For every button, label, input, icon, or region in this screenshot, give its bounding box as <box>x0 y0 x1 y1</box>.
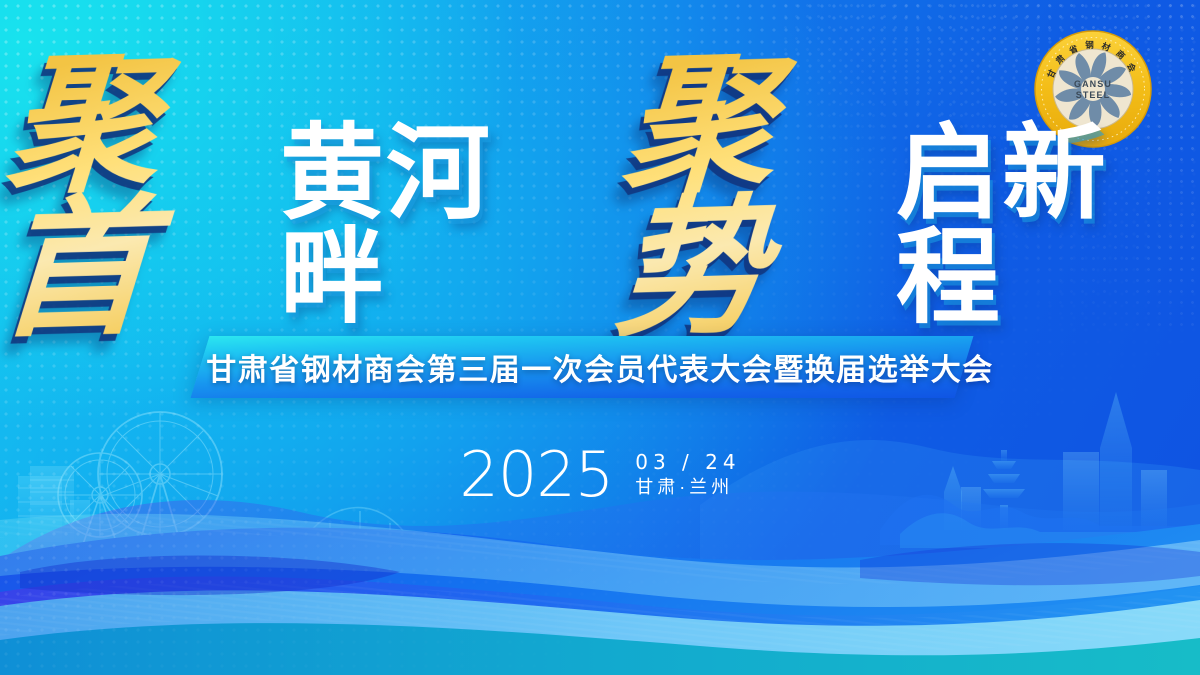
event-year: 2025 <box>459 444 613 506</box>
poster-canvas: GANSU STEEL 甘肃省钢材商会 聚首 黄河畔 聚势 启新程 甘肃省钢材商… <box>0 0 1200 675</box>
date-block: 2025 03 / 24 甘肃·兰州 <box>0 444 1200 506</box>
subtitle-banner: 甘肃省钢材商会第三届一次会员代表大会暨换届选举大会 <box>0 336 1200 398</box>
event-month-day: 03 / 24 <box>635 452 740 472</box>
subtitle-text: 甘肃省钢材商会第三届一次会员代表大会暨换届选举大会 <box>0 336 1200 398</box>
logo-english-line2: STEEL <box>1076 90 1111 100</box>
logo-english-line1: GANSU <box>1074 79 1112 89</box>
association-logo: GANSU STEEL 甘肃省钢材商会 <box>1032 28 1154 150</box>
event-location: 甘肃·兰州 <box>635 478 740 496</box>
